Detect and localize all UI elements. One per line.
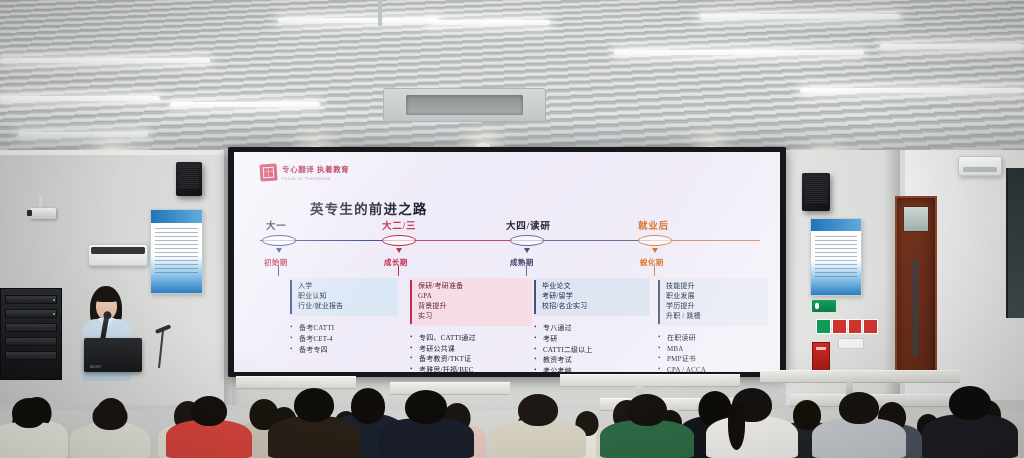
stage-stem	[526, 266, 527, 276]
stage-column-1: 入学 职业认知 行业/就业报告 备考CATTI 备考CET-4 备考专四	[290, 278, 398, 355]
person-head	[405, 390, 447, 424]
audience-member	[0, 404, 68, 458]
safety-pictogram-warning-icon	[863, 319, 878, 334]
bullet-item: 专八通过	[534, 323, 650, 334]
box-item: 背景提升	[418, 302, 526, 312]
stage-pin-icon	[652, 248, 658, 253]
audience-member	[706, 396, 798, 458]
stage-box: 入学 职业认知 行业/就业报告	[290, 278, 398, 316]
ceiling-light-tube	[170, 102, 320, 107]
audience-member	[600, 402, 694, 458]
audience-member	[166, 402, 252, 458]
ceiling-light-tube	[614, 50, 864, 55]
bullet-item: 在职读研	[658, 333, 768, 344]
stage-node	[382, 235, 416, 246]
box-item: 行业/就业报告	[298, 302, 392, 312]
poster-header	[151, 210, 202, 223]
audience-member	[812, 400, 906, 458]
safety-pictogram-exit-icon	[816, 319, 831, 334]
box-item: 考研/留学	[542, 292, 644, 302]
rack-unit	[5, 309, 57, 318]
desk-row	[560, 374, 740, 387]
slide-title: 英专生的前进之路	[310, 198, 428, 218]
desk-row	[760, 370, 960, 383]
person-ponytail	[728, 402, 745, 450]
audience-area	[0, 352, 1024, 458]
box-item: 毕业论文	[542, 282, 644, 292]
stage-box: 毕业论文 考研/留学 校招/名企实习	[534, 278, 650, 316]
stage-sub-label: 成长期	[384, 257, 408, 268]
wall-ac-unit-left	[88, 244, 148, 266]
ceiling-light-tube	[880, 44, 1024, 49]
ceiling-light-tube	[700, 14, 900, 19]
ceiling	[0, 0, 1024, 165]
box-item: 技能提升	[666, 282, 762, 292]
stage-node	[262, 235, 296, 246]
stage-sub-label: 成熟期	[510, 257, 534, 268]
door-push-bar[interactable]	[913, 260, 918, 356]
stage-box: 保研/考研准备 GPA 背景提升 实习	[410, 278, 532, 326]
ceiling-light-tube	[800, 88, 1024, 93]
bullet-item: 考研	[534, 334, 650, 345]
person-torso	[706, 416, 798, 458]
bullet-item: 备考CATTI	[290, 323, 398, 334]
poster-header	[811, 219, 861, 231]
ceiling-light-tube	[0, 96, 160, 101]
rack-unit	[5, 295, 57, 304]
stage-sub-label: 蜕化期	[640, 257, 664, 268]
slide-surface: 专心翻译 执着教育 Focus on Translation 英专生的前进之路 …	[234, 152, 780, 372]
person-torso	[268, 416, 360, 458]
box-item: 保研/考研准备	[418, 282, 526, 292]
ceiling-pipe	[378, 0, 382, 26]
security-camera-icon	[30, 208, 56, 219]
stage-head-label: 就业后	[638, 218, 669, 232]
emergency-exit-sign	[812, 300, 836, 312]
box-item: 入学	[298, 282, 392, 292]
projection-screen: 专心翻译 执着教育 Focus on Translation 英专生的前进之路 …	[228, 147, 786, 377]
stage-node	[510, 235, 544, 246]
box-item: 升职 / 跳槽	[666, 312, 762, 322]
audience-member	[268, 396, 360, 458]
ceiling-light-tube	[0, 58, 210, 63]
person-head	[191, 396, 227, 426]
audience-member	[70, 408, 150, 458]
audience-member	[922, 394, 1018, 458]
brand-logo: 专心翻译 执着教育 Focus on Translation	[260, 164, 349, 181]
person-head	[627, 394, 667, 426]
bullet-item: 备考CET-4	[290, 334, 398, 345]
stage-head-label: 大二/三	[382, 218, 416, 232]
person-head	[949, 386, 991, 420]
box-item: 职业发展	[666, 292, 762, 302]
audience-member	[378, 398, 474, 458]
timeline-axis: 大一 初始期 大二/三 成长期 大四/读研	[260, 240, 760, 242]
ceiling-light-tube	[278, 18, 438, 23]
box-item: 实习	[418, 312, 526, 322]
stage-pin-icon	[524, 248, 530, 253]
door-window	[903, 206, 929, 232]
box-item: 学历提升	[666, 302, 762, 312]
safety-pictogram-strip	[816, 319, 878, 334]
seal-icon	[259, 163, 277, 181]
window-strip	[1006, 168, 1024, 318]
wall-plate	[838, 338, 864, 349]
stage-head-label: 大四/读研	[506, 218, 551, 232]
poster-text-lines	[815, 236, 857, 278]
person-head	[839, 392, 879, 424]
presenter-fringe	[94, 291, 119, 302]
safety-pictogram-no-fire-icon	[832, 319, 847, 334]
person-head	[93, 402, 128, 430]
stage-node	[638, 235, 672, 246]
person-head	[294, 388, 334, 422]
person-torso	[922, 414, 1018, 458]
rack-led	[53, 299, 55, 301]
stage-pin-icon	[276, 248, 282, 253]
audience-member	[490, 400, 586, 458]
wall-ac-unit-right	[958, 156, 1002, 176]
box-item: GPA	[418, 292, 526, 302]
person-head	[12, 398, 46, 428]
logo-english-text: Focus on Translation	[282, 176, 349, 181]
rack-unit	[5, 323, 57, 332]
box-item: 职业认知	[298, 292, 392, 302]
lecture-hall-scene: 专心翻译 执着教育 Focus on Translation 英专生的前进之路 …	[0, 0, 1024, 458]
info-poster-left	[150, 209, 203, 294]
safety-pictogram-no-smoking-icon	[848, 319, 863, 334]
stage-box: 技能提升 职业发展 学历提升 升职 / 跳槽	[658, 278, 768, 326]
stage-stem	[398, 266, 399, 276]
box-item: 校招/名企实习	[542, 302, 644, 312]
poster-text-lines	[155, 228, 198, 274]
rack-led	[53, 313, 55, 315]
person-torso	[812, 418, 906, 458]
rack-unit	[5, 337, 57, 346]
stage-bullets: 备考CATTI 备考CET-4 备考专四	[290, 323, 398, 356]
wall-speaker-left	[176, 162, 202, 196]
person-torso	[378, 418, 474, 458]
info-poster-right	[810, 218, 862, 296]
logo-chinese-text: 专心翻译 执着教育	[282, 164, 349, 175]
stage-pin-icon	[396, 248, 402, 253]
ceiling-light-tube	[430, 20, 550, 25]
person-head	[518, 394, 558, 426]
desk-row	[390, 382, 510, 395]
stage-stem	[278, 266, 279, 276]
stage-stem	[654, 266, 655, 276]
bullet-item: 专四、CATTI通过	[410, 333, 532, 344]
wall-speaker-right	[802, 173, 830, 211]
stage-head-label: 大一	[266, 218, 287, 232]
stage-sub-label: 初始期	[264, 257, 288, 268]
